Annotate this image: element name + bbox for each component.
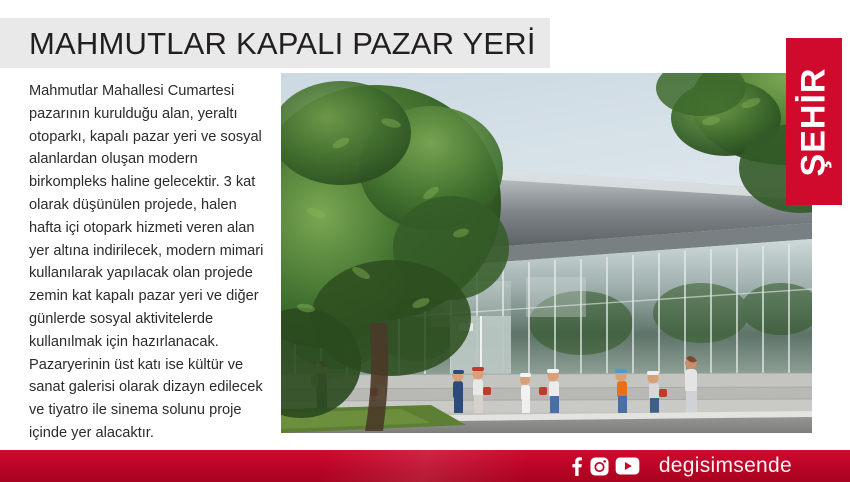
photo-illustration	[281, 73, 812, 433]
sehir-badge: ŞEHİR	[786, 38, 842, 205]
youtube-icon[interactable]	[615, 457, 640, 475]
project-render-photo	[281, 73, 812, 433]
footer-content: degisimsende	[569, 450, 792, 482]
footer-bar: degisimsende	[0, 450, 850, 482]
facebook-icon[interactable]	[569, 457, 584, 476]
sehir-badge-label: ŞEHİR	[795, 67, 834, 176]
description-paragraph: Mahmutlar Mahallesi Cumartesi pazarının …	[29, 80, 269, 445]
instagram-icon[interactable]	[590, 457, 609, 476]
page-title: MAHMUTLAR KAPALI PAZAR YERİ	[29, 24, 549, 64]
footer-handle[interactable]: degisimsende	[659, 454, 792, 478]
slide-root: MAHMUTLAR KAPALI PAZAR YERİ Mahmutlar Ma…	[0, 0, 850, 482]
social-icons	[569, 457, 640, 476]
